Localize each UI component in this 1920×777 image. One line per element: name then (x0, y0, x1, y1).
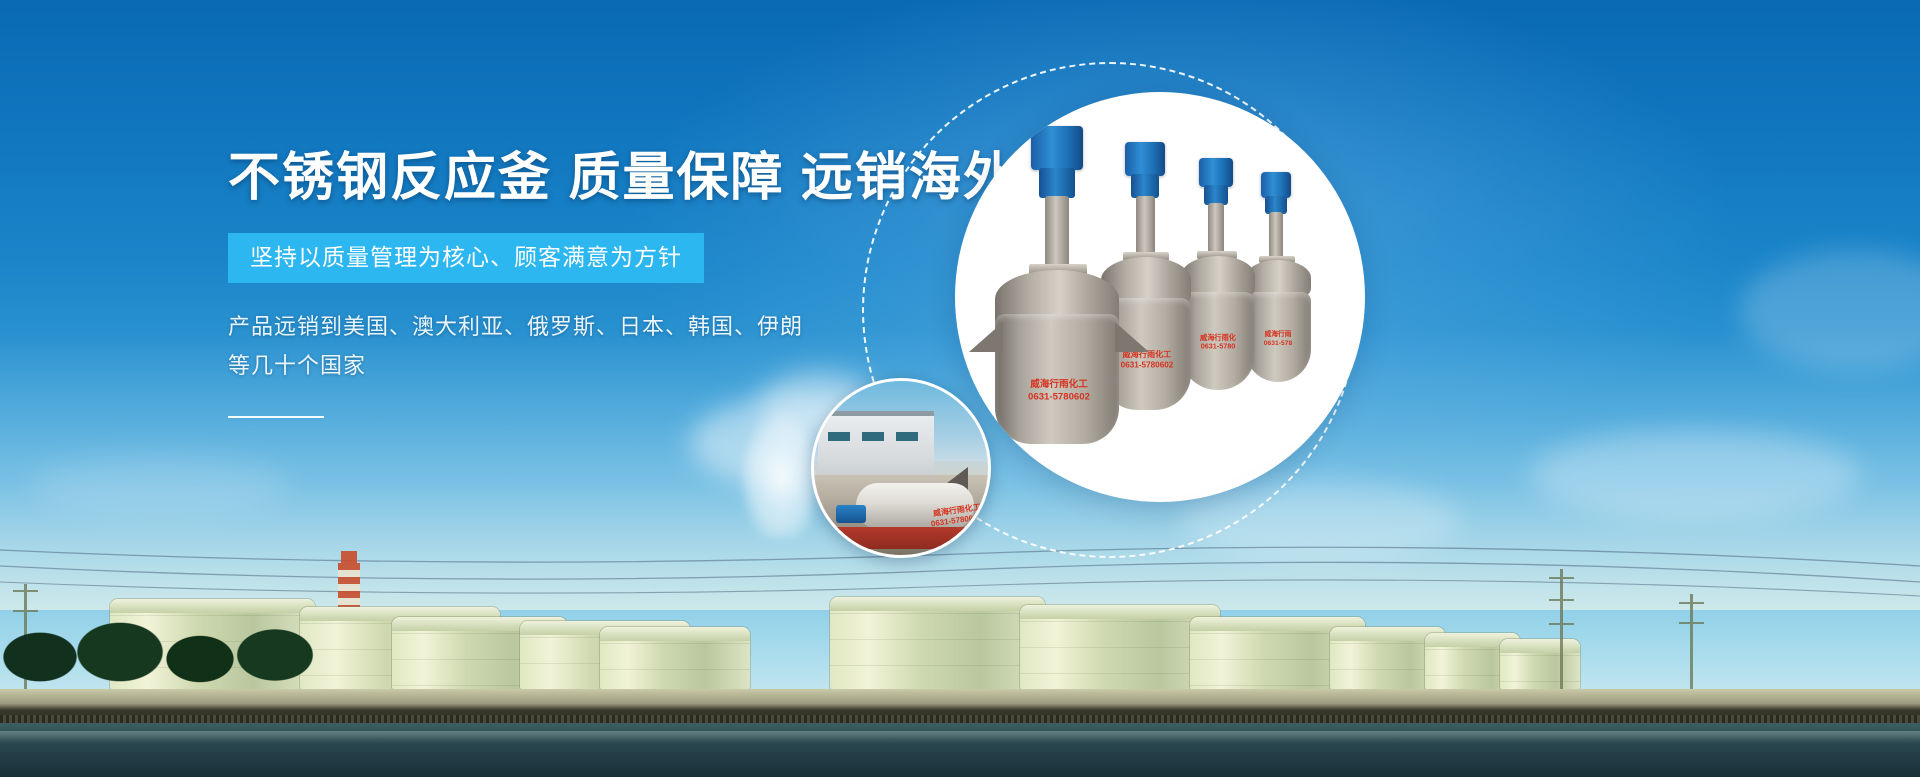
factory-photo-circle: 威海行雨化工 0631-5780602 (811, 378, 991, 558)
gearbox-icon (1204, 185, 1228, 205)
product-photo-circle: 威海行雨 0631-578 威海行雨化 0631-5780 (955, 92, 1365, 502)
divider-rule (228, 416, 324, 418)
paragraph-line-2: 等几十个国家 (228, 346, 848, 385)
window (828, 432, 850, 441)
agitator-shaft (1208, 203, 1224, 253)
transmission-pylon (1690, 594, 1693, 689)
treeline (0, 597, 330, 692)
paragraph-line-1: 产品远销到美国、澳大利亚、俄罗斯、日本、韩国、伊朗 (228, 307, 848, 346)
support-bracket (969, 322, 1003, 352)
window (896, 432, 918, 441)
gearbox-icon (1039, 168, 1075, 198)
banner-copy: 不锈钢反应釜 质量保障 远销海外 坚持以质量管理为核心、顾客满意为方针 产品远销… (228, 150, 848, 418)
gearbox-icon (1131, 174, 1159, 198)
agitator-shaft (1136, 196, 1155, 254)
industrial-tank-farm (0, 527, 1920, 777)
agitator-shaft (1045, 196, 1069, 266)
transport-trailer (832, 527, 982, 549)
motor-icon (1125, 142, 1165, 176)
storage-tank (830, 597, 1045, 689)
cloud (1530, 430, 1860, 520)
vessel-brand-label: 威海行雨化工 0631-5780602 (1007, 380, 1111, 404)
transmission-pylon (1560, 569, 1563, 689)
highlight-tagline: 坚持以质量管理为核心、顾客满意为方针 (228, 233, 704, 283)
banner-paragraph: 产品远销到美国、澳大利亚、俄罗斯、日本、韩国、伊朗 等几十个国家 (228, 307, 848, 385)
storage-tank (600, 627, 750, 689)
cloud (30, 455, 290, 515)
storage-tank (1500, 639, 1580, 689)
window (862, 432, 884, 441)
hero-banner: 不锈钢反应釜 质量保障 远销海外 坚持以质量管理为核心、顾客满意为方针 产品远销… (0, 0, 1920, 777)
motor-icon (1031, 126, 1083, 170)
reactor-vessel: 威海行雨化工 0631-5780602 (991, 126, 1127, 444)
motor-icon (1261, 172, 1291, 198)
page-title: 不锈钢反应釜 质量保障 远销海外 (228, 150, 848, 207)
motor-icon (836, 505, 866, 523)
agitator-shaft (1269, 212, 1283, 258)
motor-icon (1199, 158, 1233, 187)
water-reflection (0, 731, 1920, 743)
